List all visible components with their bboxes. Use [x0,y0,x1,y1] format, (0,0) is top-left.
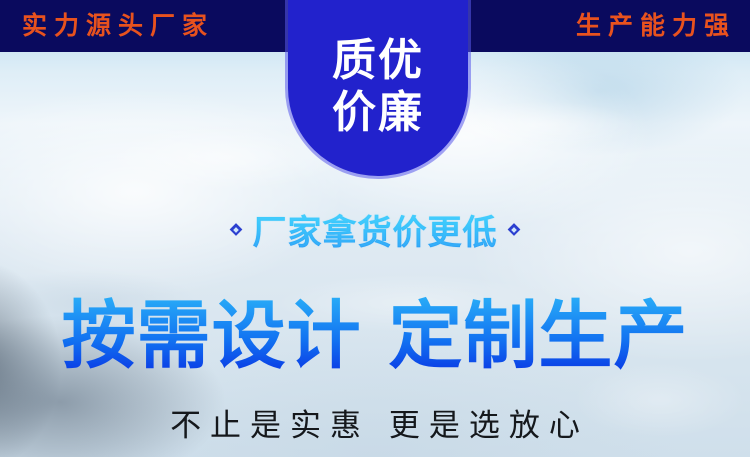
subline-row: 不止是实惠 更是选放心 [0,400,750,445]
top-banner-right-slogan: 生产能力强 [576,0,736,52]
subline-text: 不止是实惠 更是选放心 [161,400,589,445]
promo-banner: 实力源头厂家 生产能力强 质优 价廉 厂家拿货价更低 按需设计 定制生产 不止是… [0,0,750,457]
top-banner-left-slogan: 实力源头厂家 [22,0,214,52]
diamond-ornament-right-icon [508,223,521,236]
headline-row: 按需设计 定制生产 [0,276,750,383]
badge-line-1: 质优 [332,35,424,87]
mid-slogan-text: 厂家拿货价更低 [253,205,498,254]
quality-shield-badge: 质优 价廉 [288,0,468,176]
mid-slogan-row: 厂家拿货价更低 [0,205,750,254]
badge-line-2: 价廉 [332,87,424,139]
diamond-ornament-left-icon [230,223,243,236]
headline-text: 按需设计 定制生产 [62,276,689,383]
